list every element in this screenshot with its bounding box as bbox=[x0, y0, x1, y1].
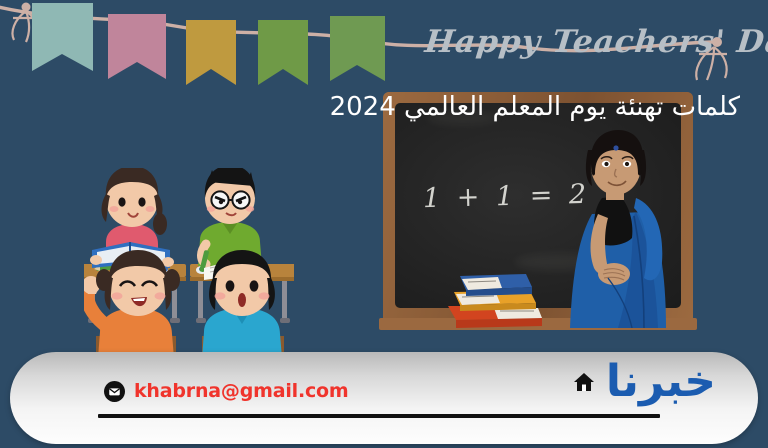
envelope-icon bbox=[104, 381, 125, 402]
email-text: khabrna@gmail.com bbox=[134, 380, 348, 402]
footer-divider bbox=[98, 414, 660, 418]
email-contact[interactable]: khabrna@gmail.com bbox=[104, 377, 348, 405]
brand-name: خبرنا bbox=[606, 360, 716, 404]
bunting-flag-4 bbox=[258, 20, 308, 85]
book-stack bbox=[438, 262, 550, 328]
script-headline: Happy Teachers' Day bbox=[423, 24, 747, 60]
home-icon bbox=[572, 370, 596, 394]
bunting-flag-3 bbox=[186, 20, 236, 85]
brand-logo[interactable]: خبرنا bbox=[572, 360, 716, 404]
bunting-flag-1 bbox=[32, 3, 93, 71]
page-title: كلمات تهنئة يوم المعلم العالمي 2024 bbox=[0, 92, 740, 122]
students-illustration bbox=[84, 168, 294, 358]
teacher-illustration bbox=[548, 128, 688, 328]
poster-canvas: Happy Teachers' Day 1 + 1 = 2 bbox=[0, 0, 768, 448]
bunting-flag-2 bbox=[108, 14, 166, 79]
bunting-flag-5 bbox=[330, 16, 385, 81]
